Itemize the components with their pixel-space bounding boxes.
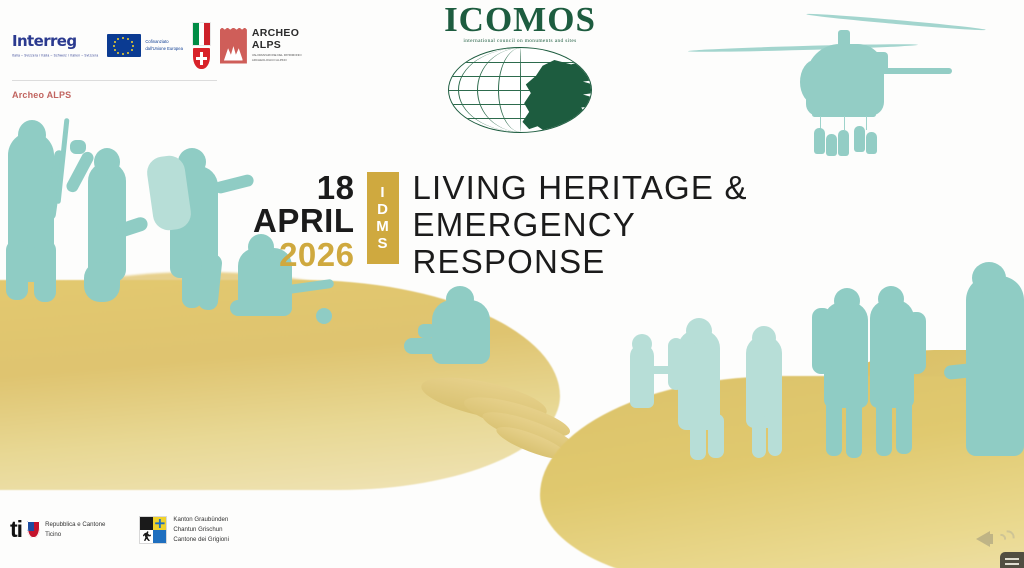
idms-badge: I D M S xyxy=(367,172,399,264)
partner-logos-bottom: ti Repubblica e Cantone Ticino Kanton Gr… xyxy=(10,515,229,545)
graubunden-line-3: Cantone dei Grigioni xyxy=(173,535,229,545)
icomos-wordmark: ICOMOS xyxy=(440,2,600,37)
archeo-alps-line-2: ALPS xyxy=(252,40,322,51)
event-title-line-3: RESPONSE xyxy=(413,244,748,281)
graubunden-crest-icon xyxy=(139,516,167,544)
event-title-line-1: LIVING HERITAGE & xyxy=(413,170,748,207)
project-label: Archeo ALPS xyxy=(12,90,322,100)
interreg-wordmark: Interreg xyxy=(12,34,98,49)
ticino-crest-icon xyxy=(27,521,40,538)
graubunden-logo: Kanton Graubünden Chantun Grischun Canto… xyxy=(139,515,229,545)
idms-letter-s: S xyxy=(377,236,387,251)
archeo-alps-line-1: ARCHEO xyxy=(252,28,322,39)
archeo-alps-logo: ARCHEO ALPS VALORIZZAZIONE DEL PATRIMONI… xyxy=(220,28,322,64)
event-headline: 18 APRIL 2026 I D M S LIVING HERITAGE & … xyxy=(253,168,748,281)
ticino-line-2: Ticino xyxy=(45,530,105,539)
idms-letter-m: M xyxy=(376,219,389,234)
volume-icon[interactable] xyxy=(976,524,1010,554)
interreg-programme-line: Italia – Svizzera / Italia – Schweiz / I… xyxy=(12,54,98,58)
interreg-logo: Interreg Italia – Svizzera / Italia – Sc… xyxy=(12,34,98,57)
icomos-logo: ICOMOS international council on monument… xyxy=(440,2,600,133)
logo-divider xyxy=(12,80,217,81)
italy-flag-icon xyxy=(192,22,211,46)
archeo-alps-small-print: VALORIZZAZIONE DEL PATRIMONIO ARCHEOLOGI… xyxy=(252,53,322,62)
event-title-line-2: EMERGENCY xyxy=(413,207,748,244)
eu-cofunding-logo: Cofinanziato dall'Unione Europea xyxy=(107,34,183,57)
ticino-wordmark: ti xyxy=(10,518,22,541)
ticino-line-1: Repubblica e Cantone xyxy=(45,520,105,529)
event-title: LIVING HERITAGE & EMERGENCY RESPONSE xyxy=(413,168,748,281)
icomos-tagline: international council on monuments and s… xyxy=(440,38,600,44)
graubunden-line-2: Chantun Grischun xyxy=(173,525,229,535)
event-month: APRIL xyxy=(253,205,355,236)
idms-letter-d: D xyxy=(377,202,388,217)
event-day: 18 xyxy=(317,172,355,203)
archeo-alps-crest-icon xyxy=(220,28,247,64)
eu-text-line-2: dall'Unione Europea xyxy=(145,46,183,52)
icomos-globe-icon xyxy=(448,47,592,133)
video-frame[interactable]: Interreg Italia – Svizzera / Italia – Sc… xyxy=(0,0,1024,568)
captions-badge-icon[interactable] xyxy=(1000,552,1024,568)
event-date: 18 APRIL 2026 xyxy=(253,168,355,270)
rescue-helicopter-icon xyxy=(686,8,986,168)
ticino-logo: ti Repubblica e Cantone Ticino xyxy=(10,518,105,541)
eu-flag-icon xyxy=(107,34,141,57)
partner-logos-top: Interreg Italia – Svizzera / Italia – Sc… xyxy=(12,22,322,100)
event-year: 2026 xyxy=(279,239,354,270)
graubunden-line-1: Kanton Graubünden xyxy=(173,515,229,525)
country-flags xyxy=(192,22,211,69)
switzerland-flag-icon xyxy=(193,48,210,69)
idms-letter-i: I xyxy=(380,185,384,200)
